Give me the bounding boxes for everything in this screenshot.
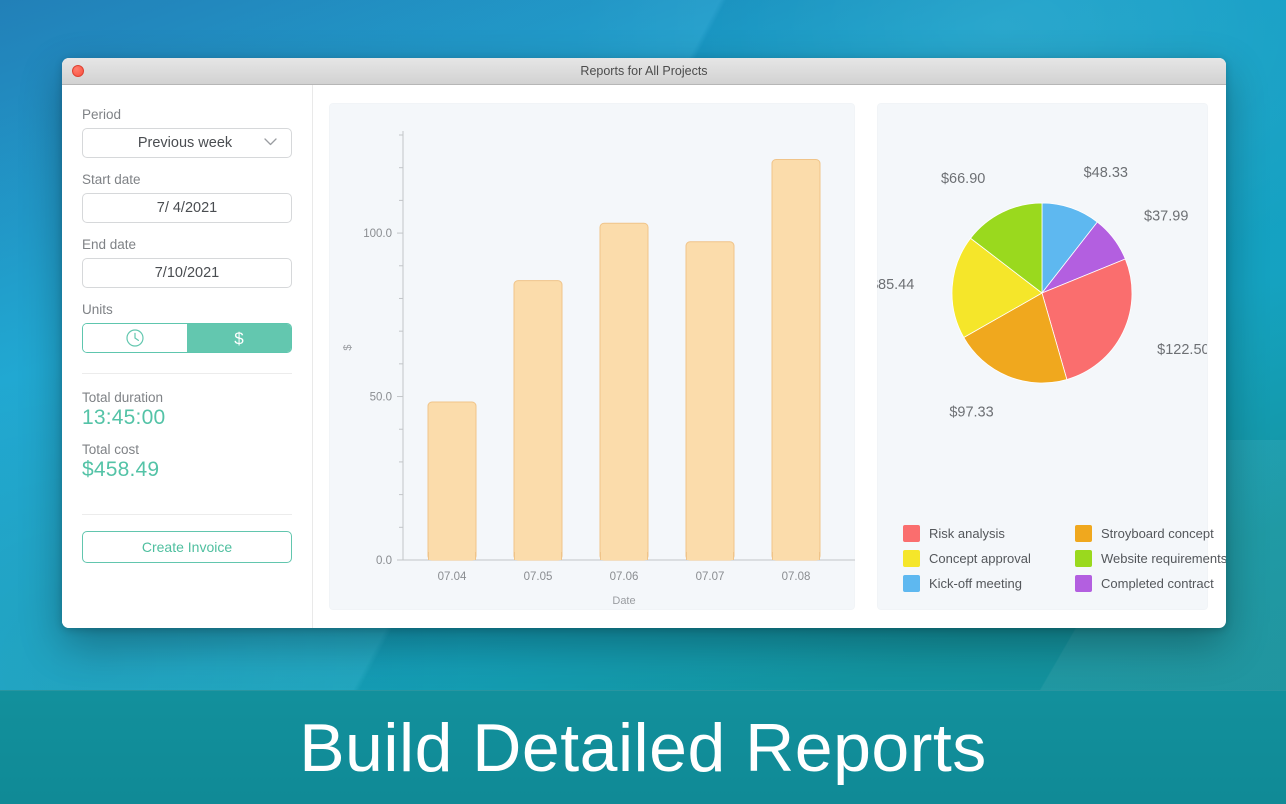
units-toggle[interactable]: $	[82, 323, 292, 353]
pie-chart-legend: Risk analysisStroyboard conceptConcept a…	[903, 525, 1192, 592]
dollar-icon: $	[229, 327, 249, 349]
spacer	[82, 288, 292, 302]
svg-text:07.06: 07.06	[610, 571, 639, 583]
period-select-value: Previous week	[138, 135, 232, 151]
caption-banner: Build Detailed Reports	[0, 690, 1286, 804]
legend-label: Stroyboard concept	[1101, 526, 1214, 541]
start-date-input[interactable]: 7/ 4/2021	[82, 193, 292, 223]
svg-text:Date: Date	[612, 595, 635, 607]
create-invoice-label: Create Invoice	[142, 539, 232, 555]
spacer	[82, 158, 292, 172]
legend-item[interactable]: Concept approval	[903, 550, 1075, 567]
svg-text:07.08: 07.08	[782, 571, 811, 583]
window-title: Reports for All Projects	[62, 64, 1226, 78]
total-cost-label: Total cost	[82, 442, 292, 457]
legend-label: Kick-off meeting	[929, 576, 1022, 591]
app-window: Reports for All Projects Period Previous…	[62, 58, 1226, 628]
svg-text:$48.33: $48.33	[1084, 165, 1128, 181]
spacer	[82, 223, 292, 237]
legend-label: Risk analysis	[929, 526, 1005, 541]
svg-text:$: $	[234, 329, 244, 348]
window-body: Period Previous week Start date 7/ 4/202…	[62, 85, 1226, 628]
legend-swatch	[1075, 575, 1092, 592]
legend-label: Completed contract	[1101, 576, 1214, 591]
svg-text:07.07: 07.07	[696, 571, 725, 583]
units-money-option[interactable]: $	[187, 324, 291, 352]
svg-text:07.05: 07.05	[524, 571, 553, 583]
svg-text:100.0: 100.0	[363, 228, 392, 240]
sidebar: Period Previous week Start date 7/ 4/202…	[62, 85, 313, 628]
legend-item[interactable]: Risk analysis	[903, 525, 1075, 542]
svg-text:0.0: 0.0	[376, 555, 392, 567]
window-titlebar[interactable]: Reports for All Projects	[62, 58, 1226, 85]
legend-swatch	[903, 550, 920, 567]
legend-swatch	[903, 575, 920, 592]
total-duration-value: 13:45:00	[82, 406, 292, 430]
legend-label: Concept approval	[929, 551, 1031, 566]
start-date-label: Start date	[82, 172, 292, 187]
pie-chart[interactable]: $48.33$37.99$122.50$97.33$85.44$66.90	[877, 103, 1207, 533]
create-invoice-button[interactable]: Create Invoice	[82, 531, 292, 563]
svg-text:50.0: 50.0	[370, 392, 392, 404]
main-content: 0.050.0100.0$07.0407.0507.0607.0707.08Da…	[313, 85, 1226, 628]
legend-item[interactable]: Website requirements	[1075, 550, 1226, 567]
period-label: Period	[82, 107, 292, 122]
legend-label: Website requirements	[1101, 551, 1226, 566]
end-date-input[interactable]: 7/10/2021	[82, 258, 292, 288]
svg-text:$122.50: $122.50	[1157, 342, 1207, 358]
pie-chart-panel: $48.33$37.99$122.50$97.33$85.44$66.90 Ri…	[877, 103, 1208, 610]
period-select[interactable]: Previous week	[82, 128, 292, 158]
total-duration-label: Total duration	[82, 390, 292, 405]
end-date-label: End date	[82, 237, 292, 252]
clock-icon	[125, 328, 145, 348]
svg-text:$66.90: $66.90	[941, 171, 985, 187]
legend-swatch	[1075, 550, 1092, 567]
legend-swatch	[903, 525, 920, 542]
bar-chart-panel: 0.050.0100.0$07.0407.0507.0607.0707.08Da…	[329, 103, 855, 610]
legend-swatch	[1075, 525, 1092, 542]
bar-chart[interactable]: 0.050.0100.0$07.0407.0507.0607.0707.08Da…	[329, 103, 855, 610]
svg-text:$37.99: $37.99	[1144, 209, 1188, 225]
svg-text:$85.44: $85.44	[877, 277, 914, 293]
units-label: Units	[82, 302, 292, 317]
units-time-option[interactable]	[83, 324, 187, 352]
sidebar-divider-top	[82, 373, 292, 374]
end-date-value: 7/10/2021	[155, 265, 220, 281]
legend-item[interactable]: Kick-off meeting	[903, 575, 1075, 592]
legend-item[interactable]: Stroyboard concept	[1075, 525, 1226, 542]
chevron-down-icon	[264, 138, 277, 146]
legend-item[interactable]: Completed contract	[1075, 575, 1226, 592]
svg-text:07.04: 07.04	[438, 571, 467, 583]
caption-text: Build Detailed Reports	[299, 714, 987, 782]
start-date-value: 7/ 4/2021	[157, 200, 217, 216]
sidebar-divider-bottom	[82, 514, 292, 515]
total-cost-value: $458.49	[82, 458, 292, 482]
svg-text:$97.33: $97.33	[949, 405, 993, 421]
svg-text:$: $	[342, 344, 354, 350]
